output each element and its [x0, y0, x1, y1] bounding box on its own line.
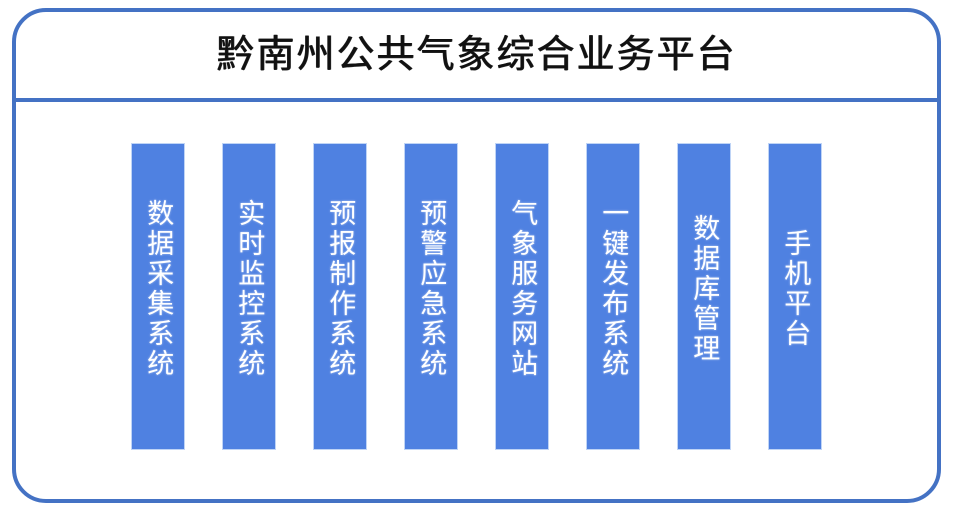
system-pillar-label: 气象服务网站	[506, 199, 538, 379]
system-pillar-forecast-production-system[interactable]: 预报制作系统	[314, 144, 366, 449]
platform-frame: 黔南州公共气象综合业务平台 数据采集系统 实时监控系统 预报制作系统 预警应急系…	[12, 8, 941, 503]
system-pillar-one-click-release-system[interactable]: 一键发布系统	[587, 144, 639, 449]
system-pillar-mobile-platform[interactable]: 手机平台	[769, 144, 821, 449]
system-pillar-data-collection-system[interactable]: 数据采集系统	[132, 144, 184, 449]
system-pillar-label: 一键发布系统	[597, 199, 629, 379]
system-pillar-meteorological-service-website[interactable]: 气象服务网站	[496, 144, 548, 449]
system-pillar-label: 手机平台	[779, 229, 811, 349]
page-title: 黔南州公共气象综合业务平台	[216, 36, 736, 74]
system-pillar-label: 预报制作系统	[324, 199, 356, 379]
system-pillar-label: 实时监控系统	[233, 199, 265, 379]
system-pillar-label: 数据库管理	[688, 214, 720, 364]
systems-row: 数据采集系统 实时监控系统 预报制作系统 预警应急系统 气象服务网站 一键发布系…	[16, 98, 937, 499]
system-pillar-label: 预警应急系统	[415, 199, 447, 379]
header-band: 黔南州公共气象综合业务平台	[16, 12, 937, 102]
system-pillar-label: 数据采集系统	[142, 199, 174, 379]
system-pillar-database-management[interactable]: 数据库管理	[678, 144, 730, 449]
system-pillar-warning-emergency-system[interactable]: 预警应急系统	[405, 144, 457, 449]
system-pillar-realtime-monitoring-system[interactable]: 实时监控系统	[223, 144, 275, 449]
